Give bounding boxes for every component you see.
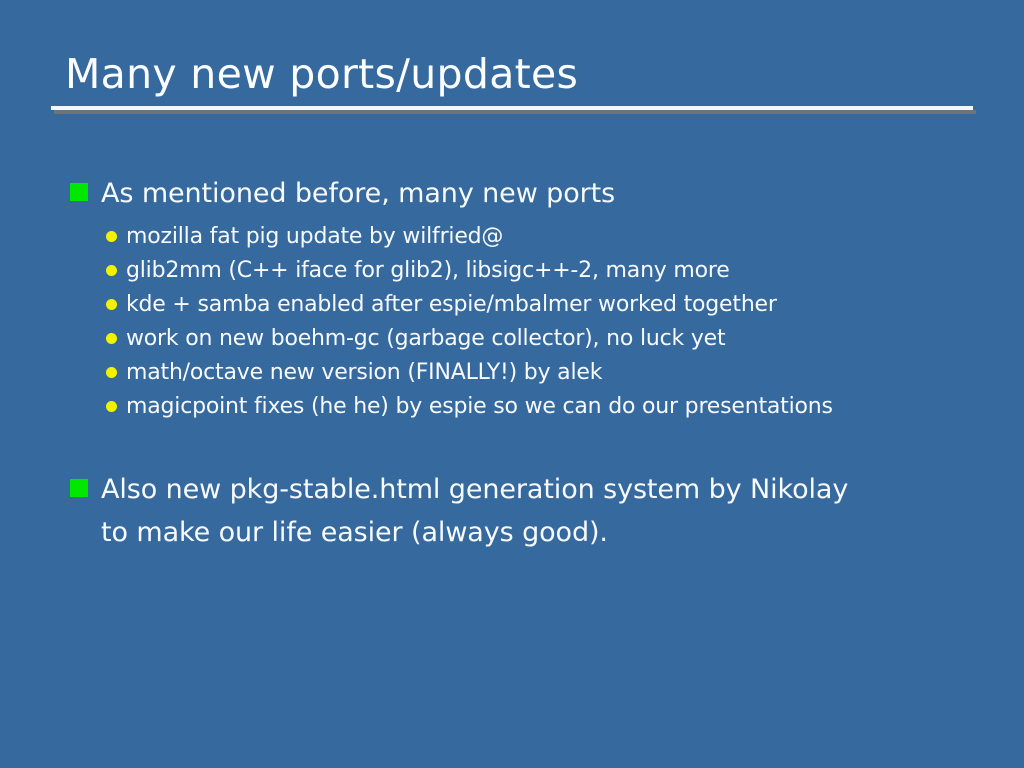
list-item: magicpoint fixes (he he) by espie so we … bbox=[106, 390, 990, 424]
title-divider-line bbox=[51, 106, 973, 110]
list-item-label: As mentioned before, many new ports bbox=[101, 172, 615, 215]
green-square-bullet-icon bbox=[70, 479, 88, 497]
list-item-label: magicpoint fixes (he he) by espie so we … bbox=[126, 390, 833, 424]
list-item: As mentioned before, many new ports bbox=[70, 172, 990, 215]
slide-title-block: Many new ports/updates bbox=[51, 48, 973, 114]
list-item: math/octave new version (FINALLY!) by al… bbox=[106, 356, 990, 390]
list-item: mozilla fat pig update by wilfried@ bbox=[106, 220, 990, 254]
list-item-label: work on new boehm-gc (garbage collector)… bbox=[126, 322, 725, 356]
list-item-label: kde + samba enabled after espie/mbalmer … bbox=[126, 288, 777, 322]
spacer bbox=[70, 424, 990, 468]
page-title: Many new ports/updates bbox=[51, 48, 973, 100]
title-divider bbox=[51, 106, 973, 114]
presentation-slide: Many new ports/updates As mentioned befo… bbox=[0, 0, 1024, 768]
list-item-label: mozilla fat pig update by wilfried@ bbox=[126, 220, 503, 254]
list-item: Also new pkg-stable.html generation syst… bbox=[70, 468, 990, 554]
slide-body: As mentioned before, many new ports mozi… bbox=[70, 172, 990, 558]
list-item-label: glib2mm (C++ iface for glib2), libsigc++… bbox=[126, 254, 730, 288]
yellow-dot-bullet-icon bbox=[106, 265, 117, 276]
list-item-label: Also new pkg-stable.html generation syst… bbox=[101, 468, 871, 554]
green-square-bullet-icon bbox=[70, 183, 88, 201]
yellow-dot-bullet-icon bbox=[106, 333, 117, 344]
list-item: kde + samba enabled after espie/mbalmer … bbox=[106, 288, 990, 322]
title-divider-shadow bbox=[54, 110, 976, 114]
yellow-dot-bullet-icon bbox=[106, 299, 117, 310]
sub-list: mozilla fat pig update by wilfried@ glib… bbox=[106, 220, 990, 424]
yellow-dot-bullet-icon bbox=[106, 231, 117, 242]
list-item: work on new boehm-gc (garbage collector)… bbox=[106, 322, 990, 356]
list-item-label: math/octave new version (FINALLY!) by al… bbox=[126, 356, 602, 390]
yellow-dot-bullet-icon bbox=[106, 367, 117, 378]
list-item: glib2mm (C++ iface for glib2), libsigc++… bbox=[106, 254, 990, 288]
yellow-dot-bullet-icon bbox=[106, 401, 117, 412]
